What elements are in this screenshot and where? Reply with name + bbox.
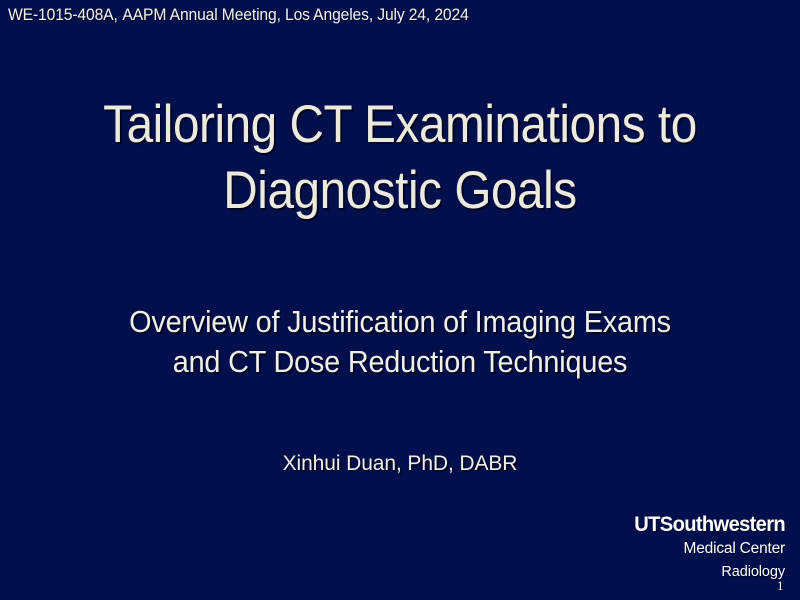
presentation-slide: WE-1015-408A,AAPM Annual Meeting, Los An… [0,0,800,600]
slide-number: 1 [777,578,784,594]
subtitle-line-1: Overview of Justification of Imaging Exa… [28,302,772,342]
abstract-id: WE-1015-408A, [8,6,118,24]
slide-title: Tailoring CT Examinations to Diagnostic … [0,92,800,224]
institution-logo: UTSouthwestern Medical Center Radiology [628,514,785,579]
logo-institution-name: UTSouthwestern [634,514,785,535]
conference-header: WE-1015-408A,AAPM Annual Meeting, Los An… [8,6,469,25]
subtitle-line-2: and CT Dose Reduction Techniques [28,342,772,382]
title-line-2: Diagnostic Goals [40,158,760,224]
conference-info: AAPM Annual Meeting, Los Angeles, July 2… [122,6,468,24]
slide-subtitle: Overview of Justification of Imaging Exa… [0,302,800,382]
logo-department-label: Radiology [628,565,785,580]
title-line-1: Tailoring CT Examinations to [40,92,760,158]
logo-medical-center-label: Medical Center [628,541,785,557]
author-name: Xinhui Duan, PhD, DABR [0,452,800,476]
